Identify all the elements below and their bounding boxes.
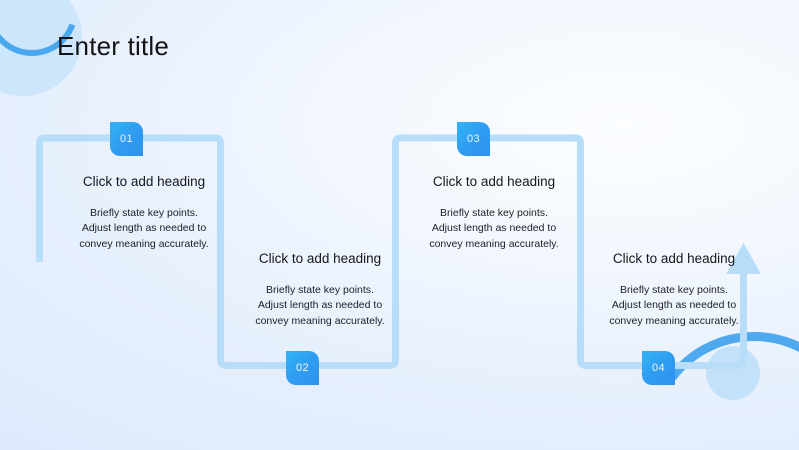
step-heading-02[interactable]: Click to add heading xyxy=(224,251,416,266)
slide-canvas: Enter title 01 02 03 04 Click to add hea… xyxy=(0,0,799,450)
step-body-01[interactable]: Briefly state key points. Adjust length … xyxy=(48,206,240,252)
step-badge-04[interactable]: 04 xyxy=(642,351,675,385)
step-block-02: Click to add heading Briefly state key p… xyxy=(224,251,416,329)
step-heading-01[interactable]: Click to add heading xyxy=(48,174,240,189)
step-block-04: Click to add heading Briefly state key p… xyxy=(578,251,770,329)
step-badge-02[interactable]: 02 xyxy=(286,351,319,385)
step-heading-04[interactable]: Click to add heading xyxy=(578,251,770,266)
step-body-03[interactable]: Briefly state key points. Adjust length … xyxy=(398,206,590,252)
step-badge-01[interactable]: 01 xyxy=(110,122,143,156)
step-body-04[interactable]: Briefly state key points. Adjust length … xyxy=(578,283,770,329)
step-block-01: Click to add heading Briefly state key p… xyxy=(48,174,240,252)
step-heading-03[interactable]: Click to add heading xyxy=(398,174,590,189)
step-body-02[interactable]: Briefly state key points. Adjust length … xyxy=(224,283,416,329)
step-block-03: Click to add heading Briefly state key p… xyxy=(398,174,590,252)
step-badge-03[interactable]: 03 xyxy=(457,122,490,156)
